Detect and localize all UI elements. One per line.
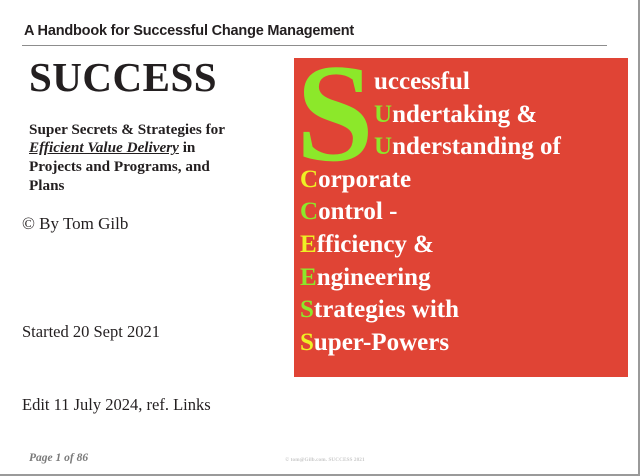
acrostic-line: Super-Powers [294,327,628,360]
started-date-text: Started 20 Sept 2021 [22,322,160,342]
acrostic-line-text: ndertaking & [392,101,537,128]
acrostic-initial-letter: S [300,329,314,356]
acrostic-initial-letter: S [300,296,314,323]
acrostic-line-text: uccessful [374,68,470,95]
acrostic-initial-letter: E [300,264,317,291]
acrostic-line-text: nderstanding of [392,133,561,160]
acrostic-line: Corporate [294,164,628,197]
subtitle-emphasis: Efficient Value Delivery [29,139,179,156]
acrostic-initial-letter: U [374,133,392,160]
acrostic-initial-letter: C [300,166,318,193]
subtitle-text-before: Super Secrets & Strategies for [29,121,225,138]
slide-canvas: A Handbook for Successful Change Managem… [0,0,640,476]
acrostic-line: Control - [294,196,628,229]
acrostic-line: Efficiency & [294,229,628,262]
footer-page-number: Page 1 of 86 [29,452,88,464]
acrostic-initial-letter: U [374,101,392,128]
acrostic-initial-letter: E [300,231,317,258]
acrostic-line-text: orporate [318,166,411,193]
acrostic-line: Strategies with [294,294,628,327]
acrostic-line-text: trategies with [314,296,459,323]
acrostic-line: uccessful [294,66,628,99]
acrostic-line-text: ontrol - [318,198,397,225]
footer-copyright-credit: © tom@Gilb.com. SUCCESS 2021 [265,457,385,463]
acrostic-line: Understanding of [294,131,628,164]
acrostic-line-list: uccessfulUndertaking &Understanding ofCo… [294,66,628,359]
acrostic-line: Undertaking & [294,99,628,132]
author-byline: © By Tom Gilb [22,214,284,234]
acrostic-line: Engineering [294,262,628,295]
acrostic-line-text: ngineering [317,264,431,291]
acrostic-red-panel: S uccessfulUndertaking &Understanding of… [294,58,628,377]
header-divider-rule [22,45,607,46]
acrostic-initial-letter: C [300,198,318,225]
left-column: SUCCESS Super Secrets & Strategies for E… [22,56,284,234]
acrostic-line-text: fficiency & [317,231,434,258]
page-header-title: A Handbook for Successful Change Managem… [24,23,354,39]
acrostic-line-text: uper-Powers [314,329,449,356]
subtitle-paragraph: Super Secrets & Strategies for Efficient… [29,121,247,196]
edit-date-text: Edit 11 July 2024, ref. Links [22,395,211,415]
page-title: SUCCESS [29,56,284,99]
